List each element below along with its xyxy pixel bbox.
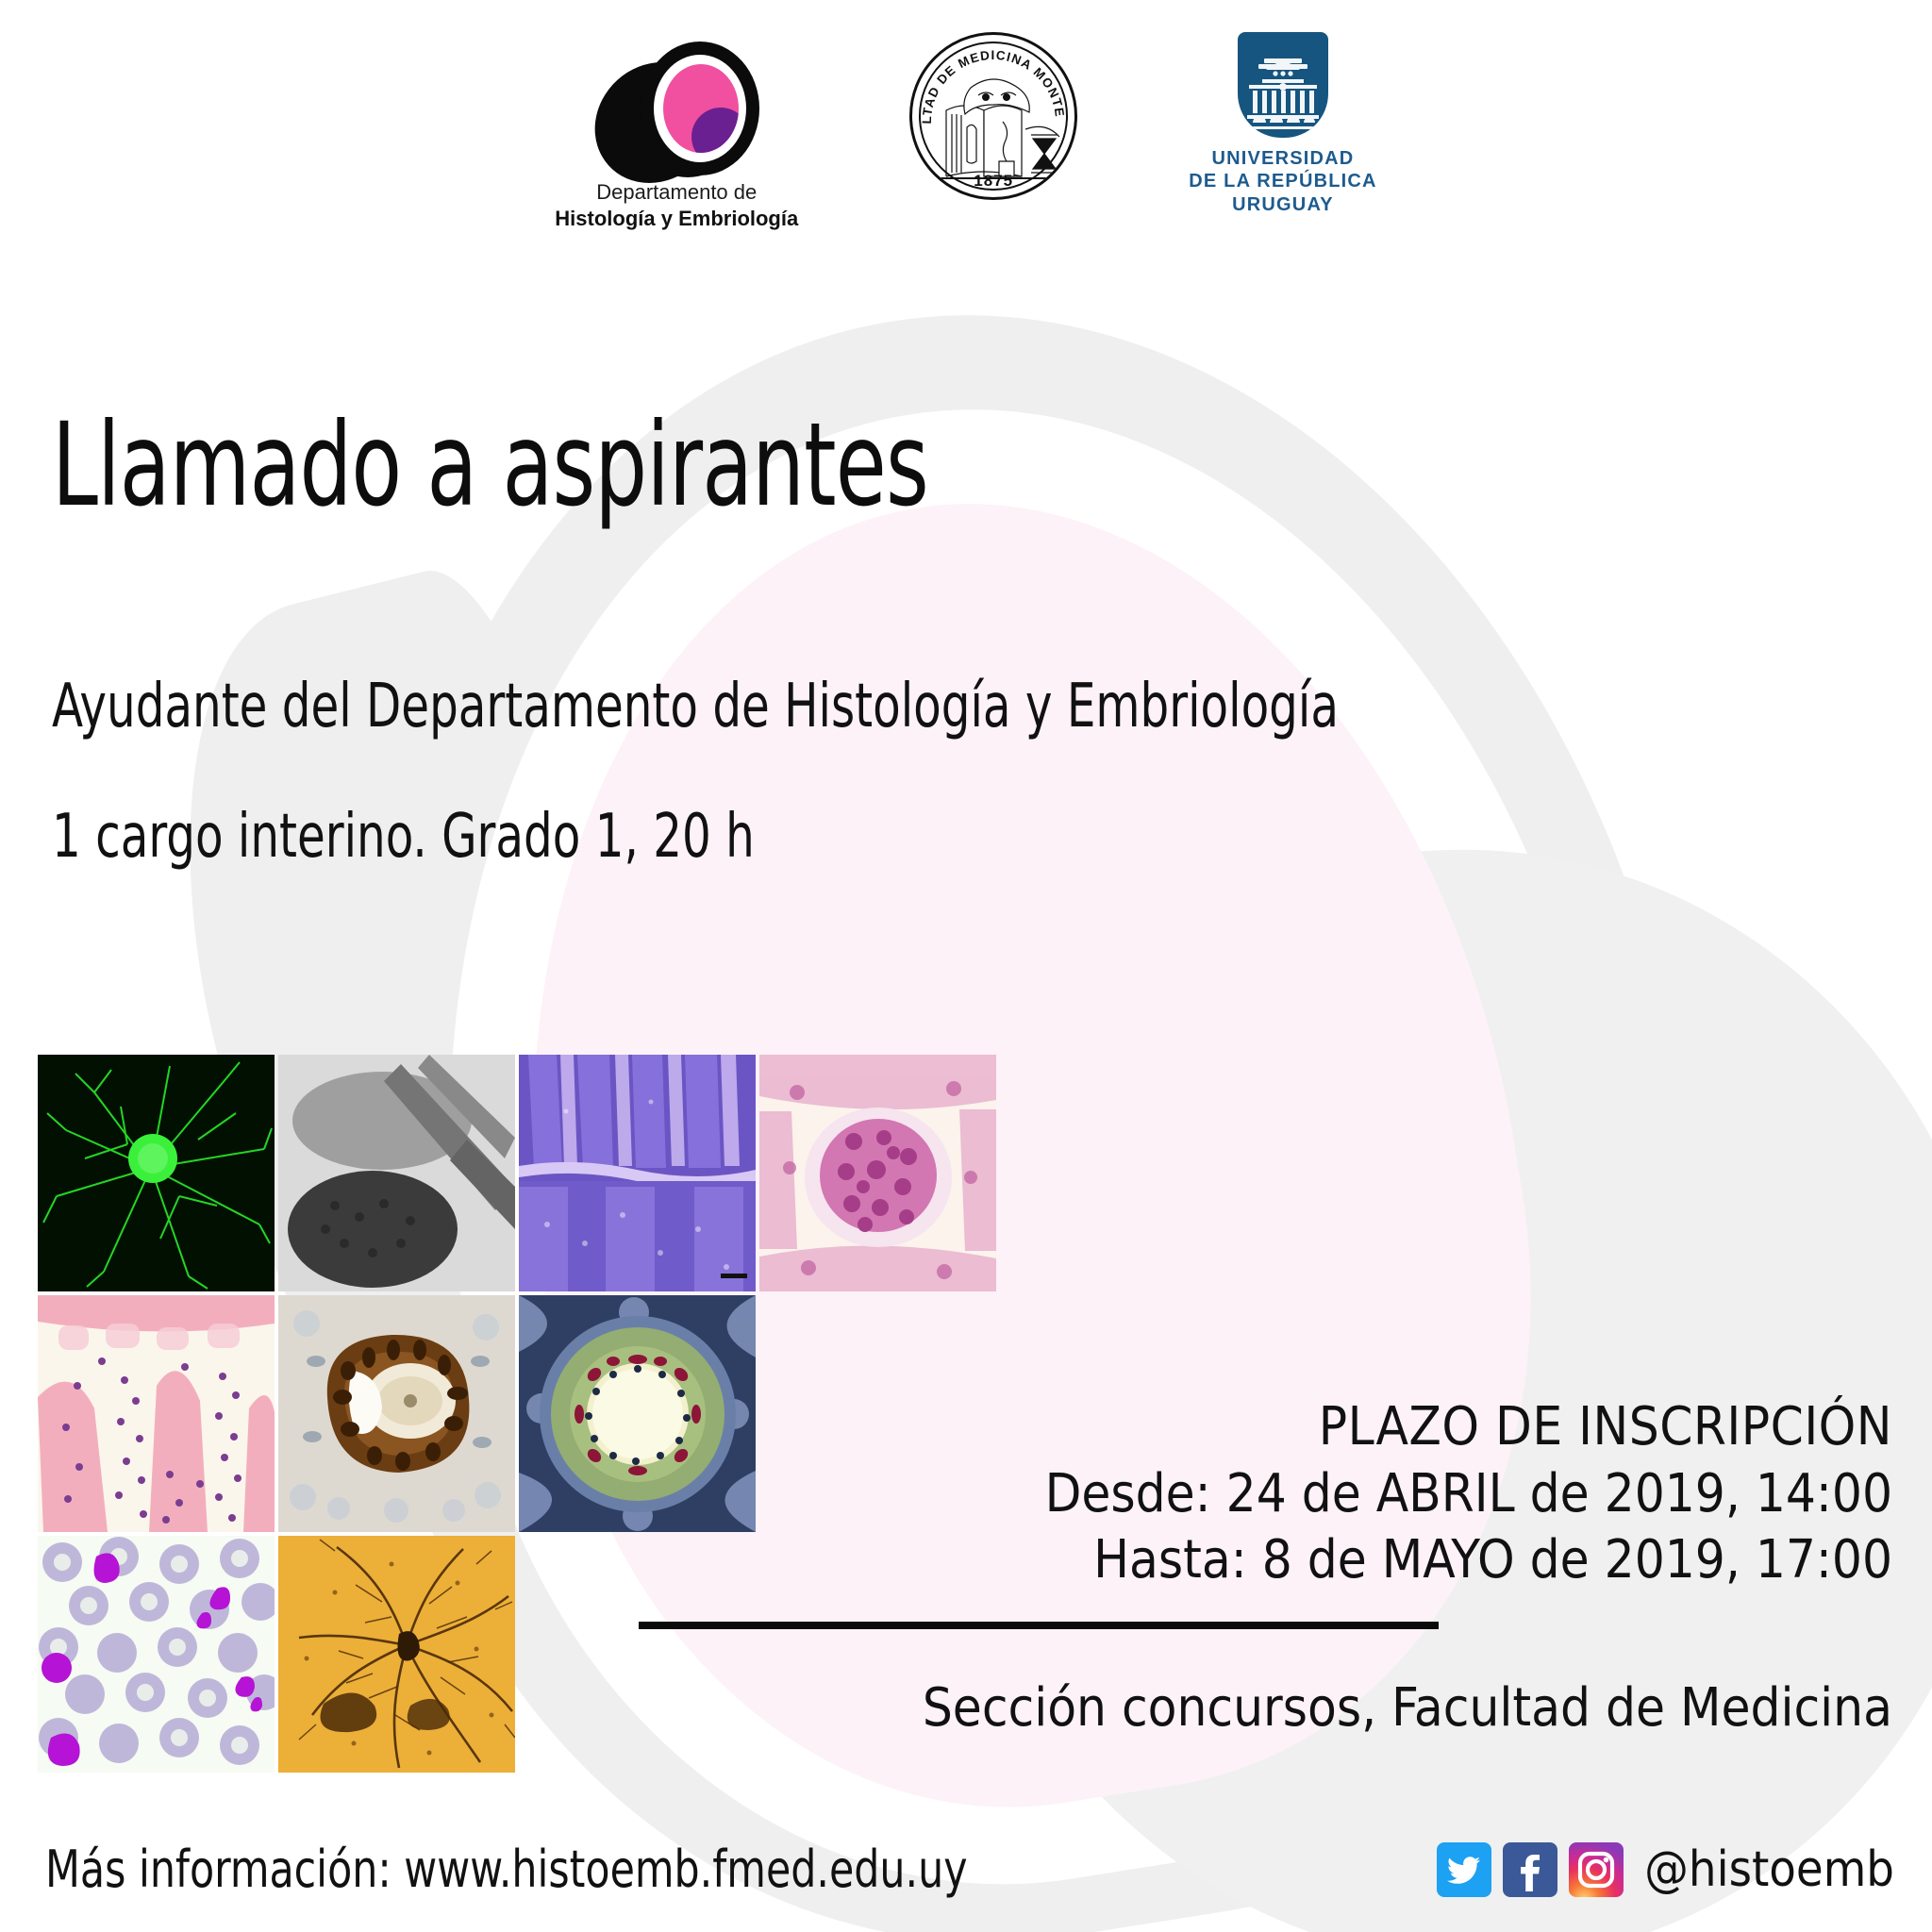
- header-logo-row: Departamento de Histología y Embriología…: [0, 32, 1932, 249]
- udelar-logo-caption: UNIVERSIDAD DE LA REPÚBLICA URUGUAY: [1189, 147, 1376, 216]
- golgi-stain-neuron: [278, 1536, 515, 1773]
- dept-cell-mark-icon: [591, 32, 761, 174]
- divider-rule: [639, 1622, 1439, 1629]
- deadline-heading: PLAZO DE INSCRIPCIÓN: [1045, 1394, 1892, 1461]
- neuron-immunofluorescence-green: [38, 1055, 275, 1291]
- social-handle: @histoemb: [1644, 1841, 1894, 1898]
- renal-glomerulus-he-stain: [759, 1055, 996, 1291]
- departamento-histologia-embriologia-logo: Departamento de Histología y Embriología: [555, 32, 798, 232]
- watermark-gray-circle: [863, 774, 1932, 1932]
- gallery-empty-slot-2: [519, 1536, 756, 1773]
- social-links: @histoemb: [1437, 1841, 1894, 1898]
- dept-logo-caption: Departamento de Histología y Embriología: [555, 179, 798, 232]
- dept-logo-caption-line2: Histología y Embriología: [555, 206, 798, 232]
- dept-mark-pink-nucleus: [663, 64, 739, 153]
- office-name: Sección concursos, Facultad de Medicina: [923, 1677, 1892, 1739]
- twitter-icon[interactable]: [1437, 1842, 1491, 1897]
- deadline-from: Desde: 24 de ABRIL de 2019, 14:00: [1045, 1461, 1892, 1528]
- deadline-to: Hasta: 8 de MAYO de 2019, 17:00: [1045, 1527, 1892, 1594]
- bone-marrow-he-stain: [38, 1295, 275, 1532]
- gallery-empty-slot: [759, 1295, 996, 1532]
- poster-canvas: Departamento de Histología y Embriología…: [0, 0, 1932, 1932]
- dept-mark-purple-nucleolus: [691, 108, 739, 153]
- medicine-seal-icon: FACULTAD DE MEDICINA MONTEVIDEO: [909, 32, 1077, 200]
- inscription-deadline-block: PLAZO DE INSCRIPCIÓN Desde: 24 de ABRIL …: [1045, 1394, 1892, 1594]
- blood-smear-giemsa: [38, 1536, 275, 1773]
- facultad-de-medicina-seal: FACULTAD DE MEDICINA MONTEVIDEO: [909, 32, 1077, 200]
- udelar-caption-line2: DE LA REPÚBLICA: [1189, 170, 1376, 192]
- position-details: 1 cargo interino. Grado 1, 20 h: [52, 802, 755, 872]
- position-subtitle: Ayudante del Departamento de Histología …: [52, 672, 1339, 741]
- udelar-caption-line1: UNIVERSIDAD: [1189, 147, 1376, 170]
- artery-cross-section-trichrome: [519, 1295, 756, 1532]
- intestinal-villi-violet-stain: [519, 1055, 756, 1291]
- electron-micrograph-grayscale: [278, 1055, 515, 1291]
- universidad-de-la-republica-logo: UNIVERSIDAD DE LA REPÚBLICA URUGUAY: [1189, 32, 1376, 216]
- udelar-caption-line3: URUGUAY: [1189, 193, 1376, 216]
- udelar-shield-icon: [1238, 32, 1328, 138]
- facebook-icon[interactable]: [1503, 1842, 1557, 1897]
- dept-logo-caption-line1: Departamento de: [555, 179, 798, 206]
- more-info-url[interactable]: Más información: www.histoemb.fmed.edu.u…: [45, 1840, 968, 1899]
- page-title: Llamado a aspirantes: [52, 398, 928, 532]
- instagram-icon[interactable]: [1569, 1842, 1624, 1897]
- immunohistochemistry-brown-duct: [278, 1295, 515, 1532]
- medicine-seal-inner-ring: [919, 42, 1068, 191]
- medicine-seal-year: 1875: [912, 172, 1074, 191]
- histology-image-grid: [38, 1055, 996, 1773]
